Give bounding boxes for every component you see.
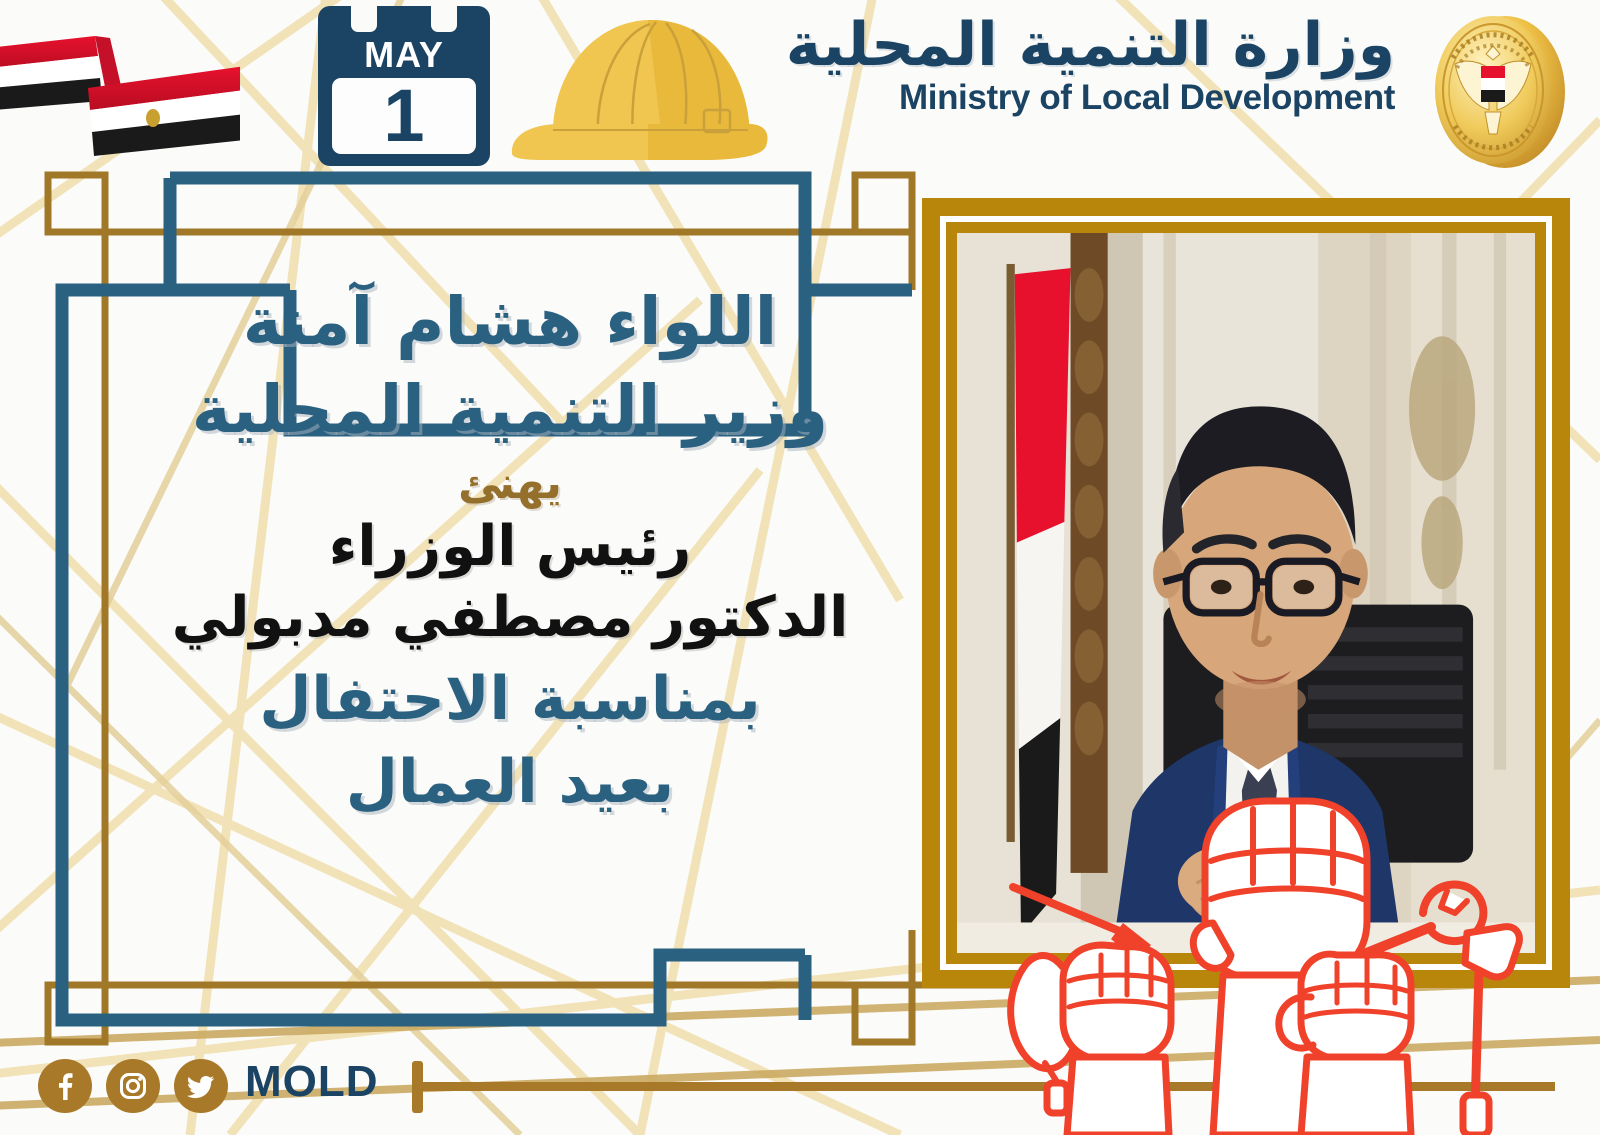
instagram-icon <box>118 1071 148 1101</box>
calendar-month-label: MAY <box>318 34 490 76</box>
twitter-icon <box>186 1071 216 1101</box>
twitter-link[interactable] <box>174 1059 228 1113</box>
social-links <box>38 1059 228 1113</box>
facebook-link[interactable] <box>38 1059 92 1113</box>
message-line-4: رئيس الوزراء <box>110 516 910 579</box>
message-line-5: الدكتور مصطفي مدبولي <box>110 587 910 650</box>
greeting-message: اللواء هشام آمنة وزير التنمية المحلية يه… <box>110 285 910 816</box>
message-line-2: وزير التنمية المحلية <box>110 373 910 447</box>
poster-header: MAY 1 وزارة التنمية المحلية Ministr <box>0 0 1600 180</box>
calendar-may-1-icon: MAY 1 <box>318 6 490 166</box>
instagram-link[interactable] <box>106 1059 160 1113</box>
egypt-flag-ribbon-icon <box>0 28 240 178</box>
egypt-ministry-emblem-icon <box>1405 6 1590 176</box>
ministry-name-english: Ministry of Local Development <box>755 79 1395 118</box>
facebook-icon <box>50 1071 80 1101</box>
hammer-icon <box>1463 927 1519 1135</box>
message-line-1: اللواء هشام آمنة <box>110 285 910 359</box>
calendar-day-label: 1 <box>383 79 424 153</box>
brand-label: MOLD <box>245 1057 379 1107</box>
message-line-6: بمناسبة الاحتفال <box>110 666 910 733</box>
ministry-wordmark: وزارة التنمية المحلية Ministry of Local … <box>755 14 1395 118</box>
raised-fists-with-tools-illustration <box>955 795 1555 1135</box>
ministry-name-arabic: وزارة التنمية المحلية <box>755 14 1395 77</box>
poster-canvas: MAY 1 وزارة التنمية المحلية Ministr <box>0 0 1600 1135</box>
message-line-7: بعيد العمال <box>110 749 910 816</box>
message-line-3: يهنئ <box>110 459 910 508</box>
safety-helmet-icon <box>498 4 788 179</box>
